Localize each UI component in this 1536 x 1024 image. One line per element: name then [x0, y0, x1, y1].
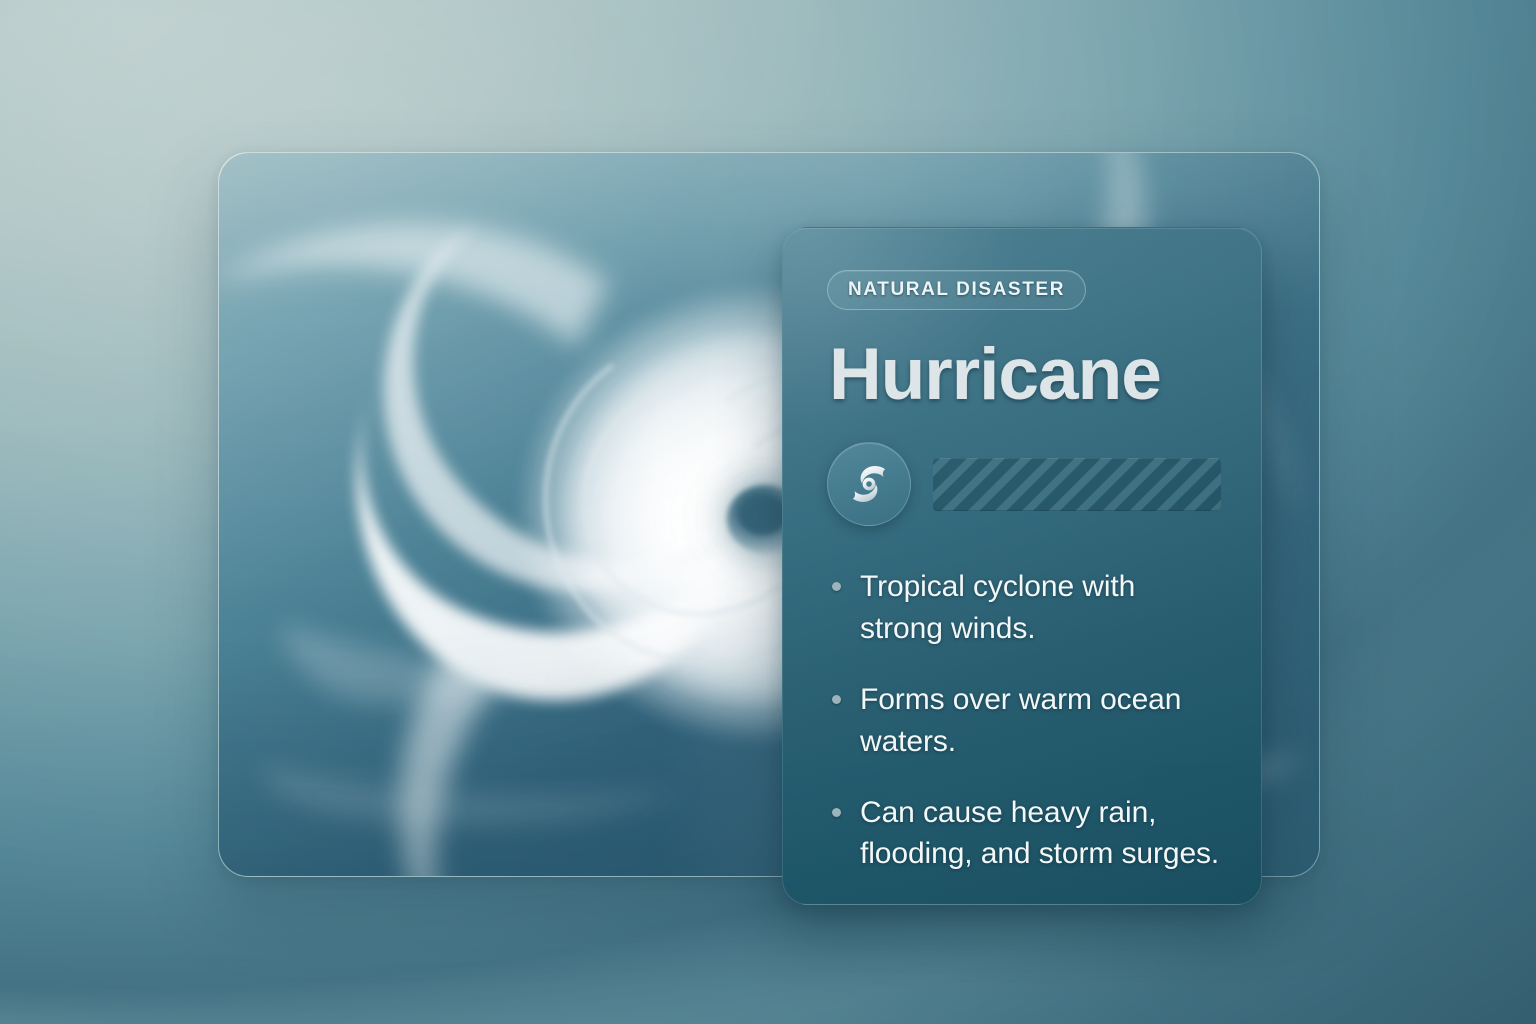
icon-row — [827, 442, 1221, 526]
bullet-dot-icon — [832, 808, 841, 817]
list-item-text: Tropical cyclone with strong winds. — [860, 570, 1135, 644]
list-item-text: Forms over warm ocean waters. — [860, 683, 1181, 757]
bullet-dot-icon — [832, 582, 841, 591]
page-title: Hurricane — [829, 338, 1221, 412]
info-panel-content: NATURAL DISASTER Hurricane — [783, 228, 1261, 875]
hurricane-icon — [827, 442, 911, 526]
striped-accent-bar — [933, 458, 1221, 511]
list-item-text: Can cause heavy rain, flooding, and stor… — [860, 796, 1219, 870]
bullet-dot-icon — [832, 695, 841, 704]
list-item: Can cause heavy rain, flooding, and stor… — [827, 792, 1221, 875]
scene: NATURAL DISASTER Hurricane — [0, 0, 1536, 1024]
list-item: Forms over warm ocean waters. — [827, 679, 1221, 762]
fact-list: Tropical cyclone with strong winds. Form… — [827, 566, 1221, 874]
info-panel: NATURAL DISASTER Hurricane — [782, 227, 1262, 905]
list-item: Tropical cyclone with strong winds. — [827, 566, 1221, 649]
category-badge: NATURAL DISASTER — [827, 270, 1086, 310]
